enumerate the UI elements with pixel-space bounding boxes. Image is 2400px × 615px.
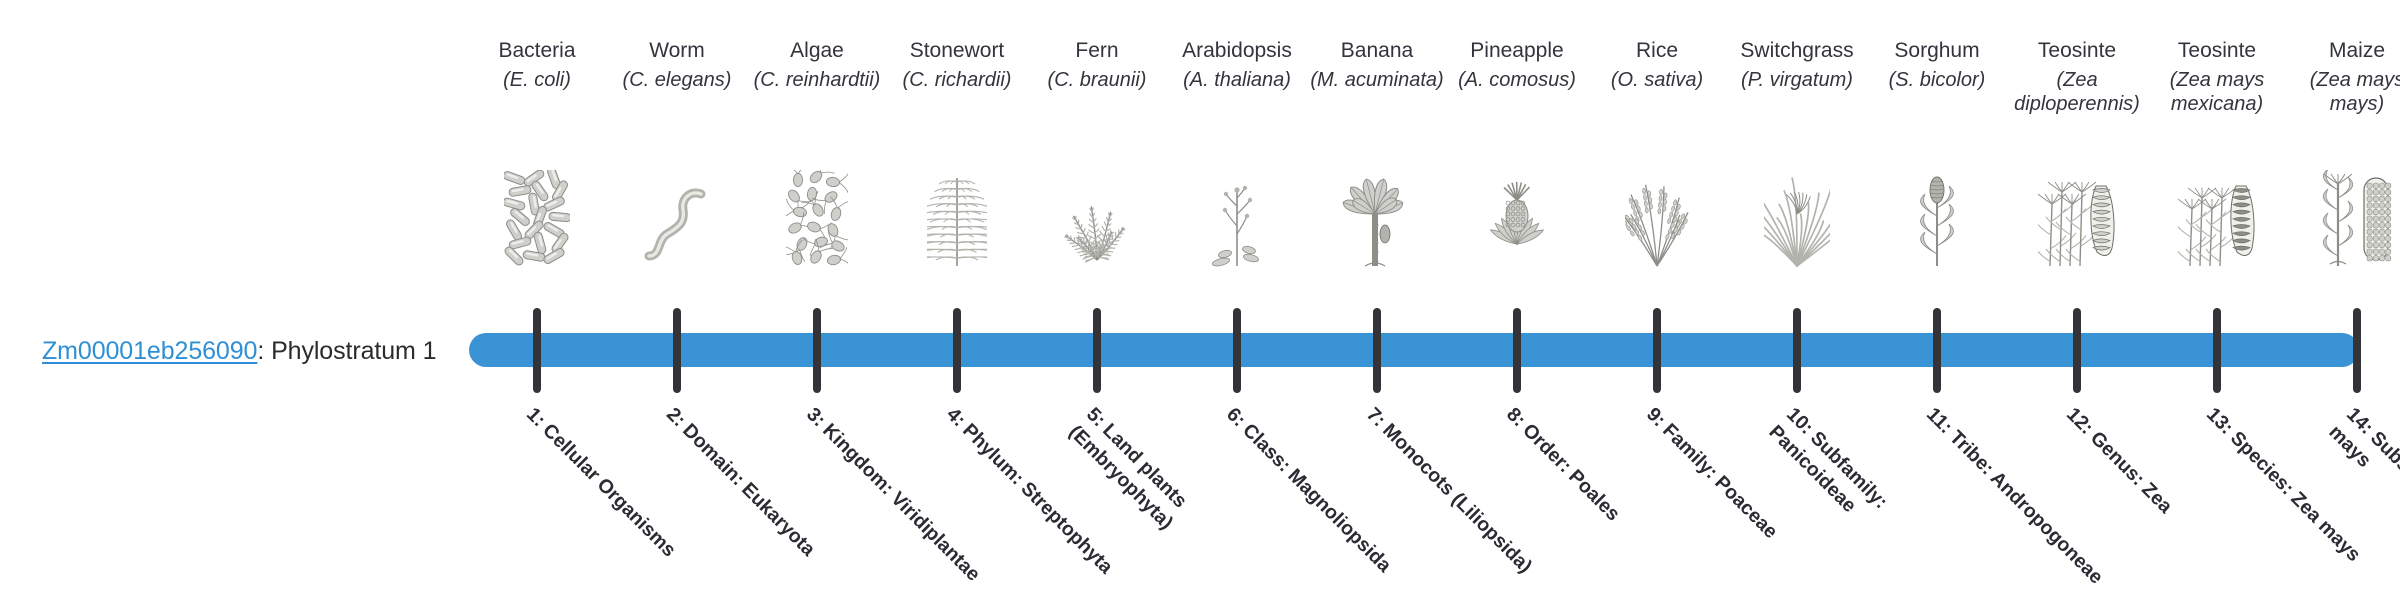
- arabidopsis-illustration: [1167, 168, 1307, 268]
- species-common-name: Bacteria: [467, 38, 607, 63]
- banana-illustration: [1307, 168, 1447, 268]
- phylostratum-tick-14[interactable]: [2353, 308, 2361, 393]
- species-latin-name: (O. sativa): [1581, 68, 1733, 92]
- phylostratum-tick-3[interactable]: [813, 308, 821, 393]
- species-columns: Bacteria(E. coli)1: Cellular OrganismsWo…: [0, 0, 2400, 580]
- worm-illustration: [607, 168, 747, 268]
- species-column-4: Stonewort(C. richardii)4: Phylum: Strept…: [887, 0, 1027, 580]
- rice-illustration: [1587, 168, 1727, 268]
- species-column-7: Banana(M. acuminata)7: Monocots (Liliops…: [1307, 0, 1447, 580]
- species-column-6: Arabidopsis(A. thaliana)6: Class: Magnol…: [1167, 0, 1307, 580]
- species-common-name: Rice: [1587, 38, 1727, 63]
- algae-illustration: [747, 168, 887, 268]
- species-column-12: Teosinte(Zea diploperennis)12: Genus: Ze…: [2007, 0, 2147, 580]
- phylostratum-tick-8[interactable]: [1513, 308, 1521, 393]
- phylostratum-tick-9[interactable]: [1653, 308, 1661, 393]
- maize-illustration: [2287, 168, 2400, 268]
- species-latin-name: (C. braunii): [1021, 68, 1173, 92]
- species-latin-name: (P. virgatum): [1721, 68, 1873, 92]
- species-latin-name: (C. richardii): [881, 68, 1033, 92]
- sorghum-illustration: [1867, 168, 2007, 268]
- species-latin-name: (C. elegans): [601, 68, 753, 92]
- phylostratum-tick-7[interactable]: [1373, 308, 1381, 393]
- species-latin-name: (Zea mays mexicana): [2141, 68, 2293, 116]
- phylostratum-tick-2[interactable]: [673, 308, 681, 393]
- species-column-14: Maize(Zea mays mays)14: Subspecies: Zea …: [2287, 0, 2400, 580]
- species-column-13: Teosinte(Zea mays mexicana)13: Species: …: [2147, 0, 2287, 580]
- species-latin-name: (S. bicolor): [1861, 68, 2013, 92]
- phylostratum-tick-5[interactable]: [1093, 308, 1101, 393]
- species-latin-name: (E. coli): [461, 68, 613, 92]
- species-common-name: Worm: [607, 38, 747, 63]
- species-common-name: Maize: [2287, 38, 2400, 63]
- species-latin-name: (A. thaliana): [1161, 68, 1313, 92]
- species-latin-name: (C. reinhardtii): [741, 68, 893, 92]
- phylostratigraphy-figure: Zm00001eb256090: Phylostratum 1 Bacteria…: [0, 0, 2400, 580]
- species-latin-name: (A. comosus): [1441, 68, 1593, 92]
- species-common-name: Pineapple: [1447, 38, 1587, 63]
- species-column-11: Sorghum(S. bicolor)11: Tribe: Andropogon…: [1867, 0, 2007, 580]
- species-common-name: Stonewort: [887, 38, 1027, 63]
- pineapple-illustration: [1447, 168, 1587, 268]
- species-latin-name: (Zea diploperennis): [2001, 68, 2153, 116]
- phylostratum-tick-4[interactable]: [953, 308, 961, 393]
- species-latin-name: (M. acuminata): [1301, 68, 1453, 92]
- species-column-5: Fern(C. braunii)5: Land plants (Embryoph…: [1027, 0, 1167, 580]
- phylostratum-tick-6[interactable]: [1233, 308, 1241, 393]
- bacteria-illustration: [467, 168, 607, 268]
- phylostratum-tick-11[interactable]: [1933, 308, 1941, 393]
- species-column-2: Worm(C. elegans)2: Domain: Eukaryota: [607, 0, 747, 580]
- species-column-3: Algae(C. reinhardtii)3: Kingdom: Viridip…: [747, 0, 887, 580]
- stonewort-illustration: [887, 168, 1027, 268]
- teosinte-diploperennis-illustration: [2007, 168, 2147, 268]
- phylostratum-tick-12[interactable]: [2073, 308, 2081, 393]
- species-common-name: Switchgrass: [1727, 38, 1867, 63]
- phylostratum-tick-10[interactable]: [1793, 308, 1801, 393]
- switchgrass-illustration: [1727, 168, 1867, 268]
- species-common-name: Sorghum: [1867, 38, 2007, 63]
- species-column-10: Switchgrass(P. virgatum)10: Subfamily: P…: [1727, 0, 1867, 580]
- species-common-name: Teosinte: [2007, 38, 2147, 63]
- species-latin-name: (Zea mays mays): [2281, 68, 2400, 116]
- species-common-name: Fern: [1027, 38, 1167, 63]
- phylostratum-tick-1[interactable]: [533, 308, 541, 393]
- fern-illustration: [1027, 168, 1167, 268]
- species-column-9: Rice(O. sativa)9: Family: Poaceae: [1587, 0, 1727, 580]
- phylostratum-tick-13[interactable]: [2213, 308, 2221, 393]
- species-column-8: Pineapple(A. comosus)8: Order: Poales: [1447, 0, 1587, 580]
- species-common-name: Teosinte: [2147, 38, 2287, 63]
- species-common-name: Banana: [1307, 38, 1447, 63]
- species-common-name: Arabidopsis: [1167, 38, 1307, 63]
- teosinte-mexicana-illustration: [2147, 168, 2287, 268]
- species-column-1: Bacteria(E. coli)1: Cellular Organisms: [467, 0, 607, 580]
- species-common-name: Algae: [747, 38, 887, 63]
